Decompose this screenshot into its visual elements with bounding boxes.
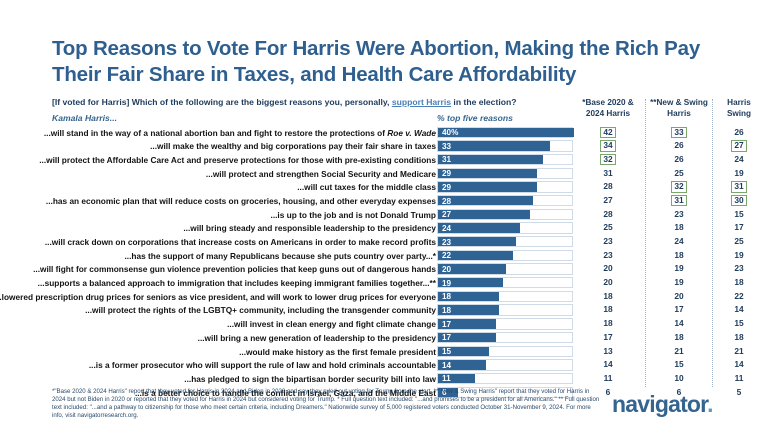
cell-harris-swing: 22: [716, 291, 762, 303]
bar-track: 29: [437, 181, 573, 192]
bar-value-label: 29: [442, 183, 451, 193]
bar-track: 17: [437, 332, 573, 343]
cell-harris-swing: 26: [716, 127, 762, 139]
row-label: ...will stand in the way of a national a…: [44, 127, 436, 139]
chart-row: ...has pledged to sign the bipartisan bo…: [0, 372, 768, 386]
bar-value-label: 19: [442, 279, 451, 289]
bar-track: 28: [437, 195, 573, 206]
bar-track: 22: [437, 250, 573, 261]
chart-row: ...will invest in clean energy and fight…: [0, 318, 768, 332]
bar-track: 24: [437, 222, 573, 233]
logo-text: navigator: [612, 391, 707, 417]
cell-harris-swing: 5: [716, 387, 762, 399]
bar-value-label: 29: [442, 169, 451, 179]
row-label: ...will protect and strengthen Social Se…: [206, 168, 436, 180]
cell-base-2020-2024-harris: 18: [576, 291, 640, 303]
cell-base-2020-2024-harris: 20: [576, 263, 640, 275]
cell-harris-swing: 30: [716, 195, 762, 207]
chart-row: ...lowered prescription drug prices for …: [0, 290, 768, 304]
cell-harris-swing: 19: [716, 250, 762, 262]
bar-value-label: 15: [442, 347, 451, 357]
question-link[interactable]: support Harris: [392, 97, 451, 107]
row-label: ...will fight for commonsense gun violen…: [33, 263, 436, 275]
row-label: ...has an economic plan that will reduce…: [46, 195, 436, 207]
bar-track: 33: [437, 140, 573, 151]
chart-row: ...has an economic plan that will reduce…: [0, 194, 768, 208]
bar-fill: [438, 196, 533, 205]
bar-value-label: 17: [442, 320, 451, 330]
bar-value-label: 28: [442, 197, 451, 207]
cell-base-2020-2024-harris: 34: [576, 140, 640, 152]
cell-new-swing-harris: 15: [648, 359, 710, 371]
row-label: ...would make history as the first femal…: [239, 346, 436, 358]
cell-new-swing-harris: 17: [648, 304, 710, 316]
chart-page: Top Reasons to Vote For Harris Were Abor…: [0, 0, 768, 432]
column-header-harris-swing: Harris Swing: [716, 98, 762, 119]
cell-new-swing-harris: 24: [648, 236, 710, 248]
bar-value-label: 40%: [442, 128, 458, 138]
cell-base-2020-2024-harris: 28: [576, 181, 640, 193]
cell-new-swing-harris: 26: [648, 154, 710, 166]
column-header-base-2020-2024-harris: *Base 2020 & 2024 Harris: [576, 98, 640, 119]
bar-fill: [438, 182, 537, 191]
cell-base-2020-2024-harris: 14: [576, 359, 640, 371]
footnote: *"Base 2020 & 2024 Harris" report that t…: [52, 388, 604, 420]
navigator-logo: navigator.: [612, 391, 713, 418]
row-label: ...will bring steady and responsible lea…: [183, 222, 436, 234]
highlight-box: 27: [731, 140, 747, 152]
bar-value-label: 20: [442, 265, 451, 275]
highlight-box: 31: [671, 195, 687, 207]
chart-row: ...will bring steady and responsible lea…: [0, 222, 768, 236]
bar-fill: [438, 141, 550, 150]
row-axis-label: Kamala Harris...: [52, 113, 117, 123]
cell-new-swing-harris: 23: [648, 209, 710, 221]
row-label: ...will make the wealthy and big corpora…: [150, 140, 436, 152]
cell-harris-swing: 24: [716, 154, 762, 166]
cell-base-2020-2024-harris: 31: [576, 168, 640, 180]
bar-track: 18: [437, 304, 573, 315]
cell-new-swing-harris: 10: [648, 373, 710, 385]
row-label: ...lowered prescription drug prices for …: [0, 291, 436, 303]
chart-row: ...will protect the Affordable Care Act …: [0, 153, 768, 167]
cell-harris-swing: 18: [716, 332, 762, 344]
bar-value-label: 24: [442, 224, 451, 234]
bar-fill: [438, 169, 537, 178]
row-label: ...has the support of many Republicans b…: [124, 250, 436, 262]
bar-track: 27: [437, 209, 573, 220]
cell-harris-swing: 21: [716, 346, 762, 358]
bar-value-label: 11: [442, 374, 451, 384]
highlight-box: 31: [731, 181, 747, 193]
cell-new-swing-harris: 18: [648, 222, 710, 234]
chart-row: ...is up to the job and is not Donald Tr…: [0, 208, 768, 222]
bar-track: 31: [437, 154, 573, 165]
chart-row: ...will protect the rights of the LGBTQ+…: [0, 304, 768, 318]
bar-track: 19: [437, 277, 573, 288]
row-label: ...will cut taxes for the middle class: [297, 181, 436, 193]
column-header-new-swing-harris: **New & Swing Harris: [648, 98, 710, 119]
row-label: ...has pledged to sign the bipartisan bo…: [184, 373, 436, 385]
chart-row: ...will protect and strengthen Social Se…: [0, 167, 768, 181]
cell-base-2020-2024-harris: 11: [576, 373, 640, 385]
cell-harris-swing: 15: [716, 318, 762, 330]
cell-base-2020-2024-harris: 23: [576, 236, 640, 248]
highlight-box: 32: [600, 154, 616, 166]
chart-row: ...has the support of many Republicans b…: [0, 249, 768, 263]
cell-harris-swing: 17: [716, 222, 762, 234]
cell-base-2020-2024-harris: 25: [576, 222, 640, 234]
cell-base-2020-2024-harris: 18: [576, 318, 640, 330]
bar-fill: [438, 155, 543, 164]
cell-harris-swing: 23: [716, 263, 762, 275]
chart-row: ...will stand in the way of a national a…: [0, 126, 768, 140]
cell-new-swing-harris: 19: [648, 277, 710, 289]
cell-new-swing-harris: 18: [648, 250, 710, 262]
cell-base-2020-2024-harris: 32: [576, 154, 640, 166]
cell-new-swing-harris: 14: [648, 318, 710, 330]
cell-base-2020-2024-harris: 23: [576, 250, 640, 262]
question-pre: [If voted for Harris] Which of the follo…: [52, 97, 392, 107]
highlight-box: 32: [671, 181, 687, 193]
cell-new-swing-harris: 32: [648, 181, 710, 193]
cell-new-swing-harris: 18: [648, 332, 710, 344]
row-label: ...supports a balanced approach to immig…: [38, 277, 436, 289]
survey-question: [If voted for Harris] Which of the follo…: [52, 97, 572, 108]
cell-harris-swing: 18: [716, 277, 762, 289]
cell-harris-swing: 19: [716, 168, 762, 180]
cell-harris-swing: 15: [716, 209, 762, 221]
chart-row: ...will fight for commonsense gun violen…: [0, 263, 768, 277]
cell-new-swing-harris: 25: [648, 168, 710, 180]
cell-new-swing-harris: 31: [648, 195, 710, 207]
bar-track: 40%: [437, 127, 573, 138]
cell-harris-swing: 25: [716, 236, 762, 248]
bar-track: 17: [437, 318, 573, 329]
cell-harris-swing: 27: [716, 140, 762, 152]
row-label: ...will invest in clean energy and fight…: [227, 318, 436, 330]
bar-value-label: 23: [442, 238, 451, 248]
highlight-box: 30: [731, 195, 747, 207]
bar-track: 20: [437, 263, 573, 274]
cell-harris-swing: 31: [716, 181, 762, 193]
highlight-box: 42: [600, 127, 616, 139]
row-label: ...is up to the job and is not Donald Tr…: [271, 209, 436, 221]
cell-base-2020-2024-harris: 28: [576, 209, 640, 221]
cell-new-swing-harris: 19: [648, 263, 710, 275]
value-axis-label: % top five reasons: [437, 113, 513, 123]
cell-new-swing-harris: 21: [648, 346, 710, 358]
cell-base-2020-2024-harris: 13: [576, 346, 640, 358]
row-label: ...will bring a new generation of leader…: [198, 332, 436, 344]
chart-row: ...supports a balanced approach to immig…: [0, 277, 768, 291]
highlight-box: 34: [600, 140, 616, 152]
chart-row: ...is a former prosecutor who will suppo…: [0, 359, 768, 373]
bar-track: 11: [437, 373, 573, 384]
bar-value-label: 31: [442, 155, 451, 165]
question-post: in the election?: [451, 97, 516, 107]
bar-track: 18: [437, 291, 573, 302]
row-label: ...will crack down on corporations that …: [45, 236, 436, 248]
row-label: ...will protect the rights of the LGBTQ+…: [85, 304, 436, 316]
bar-value-label: 22: [442, 251, 451, 261]
bar-track: 15: [437, 346, 573, 357]
bar-track: 23: [437, 236, 573, 247]
logo-dot: .: [707, 391, 713, 417]
cell-new-swing-harris: 33: [648, 127, 710, 139]
chart-row: ...will crack down on corporations that …: [0, 236, 768, 250]
cell-base-2020-2024-harris: 42: [576, 127, 640, 139]
cell-base-2020-2024-harris: 17: [576, 332, 640, 344]
cell-base-2020-2024-harris: 20: [576, 277, 640, 289]
row-label: ...is a former prosecutor who will suppo…: [89, 359, 436, 371]
cell-harris-swing: 14: [716, 359, 762, 371]
page-title: Top Reasons to Vote For Harris Were Abor…: [52, 36, 742, 88]
row-label: ...will protect the Affordable Care Act …: [39, 154, 436, 166]
highlight-box: 33: [671, 127, 687, 139]
chart-row: ...will make the wealthy and big corpora…: [0, 140, 768, 154]
cell-base-2020-2024-harris: 18: [576, 304, 640, 316]
cell-new-swing-harris: 26: [648, 140, 710, 152]
bar-value-label: 18: [442, 292, 451, 302]
chart-row: ...would make history as the first femal…: [0, 345, 768, 359]
bar-value-label: 14: [442, 361, 451, 371]
cell-harris-swing: 14: [716, 304, 762, 316]
chart-row: ...will cut taxes for the middle class29…: [0, 181, 768, 195]
cell-harris-swing: 11: [716, 373, 762, 385]
bar-fill: [438, 210, 530, 219]
bar-track: 29: [437, 168, 573, 179]
bar-value-label: 17: [442, 333, 451, 343]
chart-row: ...will bring a new generation of leader…: [0, 331, 768, 345]
bar-track: 14: [437, 359, 573, 370]
cell-base-2020-2024-harris: 27: [576, 195, 640, 207]
bar-value-label: 27: [442, 210, 451, 220]
bar-value-label: 33: [442, 142, 451, 152]
cell-new-swing-harris: 20: [648, 291, 710, 303]
bar-fill: [438, 128, 574, 137]
bar-value-label: 18: [442, 306, 451, 316]
chart-rows: ...will stand in the way of a national a…: [0, 126, 768, 400]
